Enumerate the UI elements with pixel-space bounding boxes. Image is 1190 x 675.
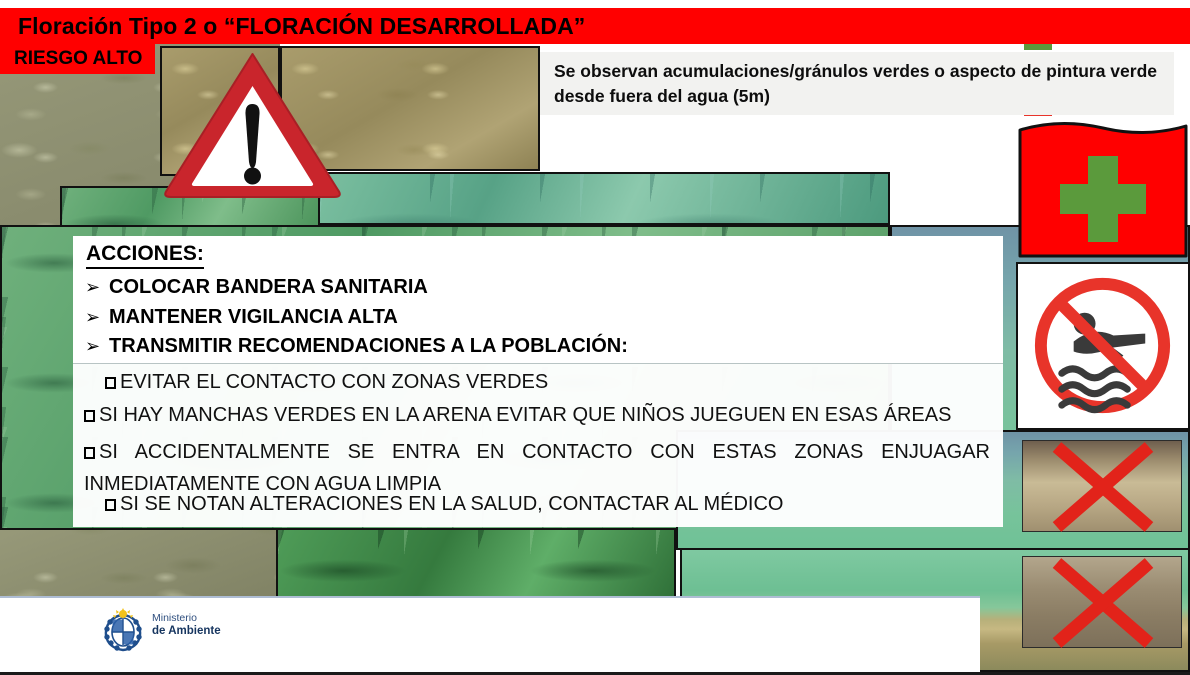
title-bar: Floración Tipo 2 o “FLORACIÓN DESARROLLA…	[0, 8, 1190, 44]
photo-child-in-sand-1	[1022, 440, 1182, 532]
action-item-2-label: MANTENER VIGILANCIA ALTA	[109, 306, 398, 328]
description-text: Se observan acumulaciones/gránulos verde…	[554, 59, 1166, 109]
description-panel: Se observan acumulaciones/gránulos verde…	[540, 52, 1174, 115]
checkbox-icon	[84, 410, 95, 422]
recommendation-4-label: SI SE NOTAN ALTERACIONES EN LA SALUD, CO…	[120, 493, 783, 515]
page-title: Floración Tipo 2 o “FLORACIÓN DESARROLLA…	[18, 13, 585, 40]
actions-panel: ACCIONES: ➢COLOCAR BANDERA SANITARIA ➢MA…	[73, 236, 1003, 527]
action-item-2: ➢MANTENER VIGILANCIA ALTA	[85, 306, 398, 329]
flag-sliver-green	[1024, 44, 1052, 50]
recommendation-item-1: EVITAR EL CONTACTO CON ZONAS VERDES	[105, 371, 548, 394]
bullet-arrow-icon: ➢	[85, 307, 109, 328]
recommendation-item-3: SI ACCIDENTALMENTE SE ENTRA EN CONTACTO …	[84, 436, 990, 500]
recommendation-item-2: SI HAY MANCHAS VERDES EN LA ARENA EVITAR…	[84, 404, 951, 427]
status-badge: RIESGO ALTO	[0, 44, 155, 74]
photo-child-in-sand-2	[1022, 556, 1182, 648]
recommendation-1-label: EVITAR EL CONTACTO CON ZONAS VERDES	[120, 371, 548, 393]
recommendation-2-label: SI HAY MANCHAS VERDES EN LA ARENA EVITAR…	[99, 404, 951, 426]
actions-upper-section: ACCIONES: ➢COLOCAR BANDERA SANITARIA ➢MA…	[73, 236, 1003, 363]
recommendation-item-4: SI SE NOTAN ALTERACIONES EN LA SALUD, CO…	[105, 493, 783, 516]
action-item-3-label: TRANSMITIR RECOMENDACIONES A LA POBLACIÓ…	[109, 335, 628, 357]
action-item-1: ➢COLOCAR BANDERA SANITARIA	[85, 276, 428, 299]
risk-badge-label: RIESGO ALTO	[14, 48, 142, 70]
red-flag-green-cross-icon	[1016, 116, 1190, 264]
checkbox-icon	[105, 377, 116, 389]
ministry-logotype: Ministerio de Ambiente	[152, 612, 221, 638]
bullet-arrow-icon: ➢	[85, 336, 109, 357]
checkbox-icon	[84, 447, 95, 459]
photo-bloom-water-band	[318, 172, 890, 225]
warning-triangle-icon	[160, 46, 345, 201]
red-x-icon	[1023, 557, 1183, 649]
checkbox-icon	[105, 499, 116, 511]
ministry-line-1: Ministerio	[152, 612, 221, 625]
recommendations-section: EVITAR EL CONTACTO CON ZONAS VERDES SI H…	[73, 364, 1003, 527]
no-swimming-icon	[1016, 262, 1190, 430]
recommendation-3-label: SI ACCIDENTALMENTE SE ENTRA EN CONTACTO …	[84, 441, 990, 495]
slide-canvas: Floración Tipo 2 o “FLORACIÓN DESARROLLA…	[0, 0, 1190, 675]
bullet-arrow-icon: ➢	[85, 277, 109, 298]
action-item-1-label: COLOCAR BANDERA SANITARIA	[109, 276, 428, 298]
action-item-3: ➢TRANSMITIR RECOMENDACIONES A LA POBLACI…	[85, 335, 628, 358]
red-x-icon	[1023, 441, 1183, 533]
ministry-line-2: de Ambiente	[152, 625, 221, 638]
photo-bloom-water-lower	[276, 528, 676, 602]
actions-heading: ACCIONES:	[86, 242, 204, 269]
